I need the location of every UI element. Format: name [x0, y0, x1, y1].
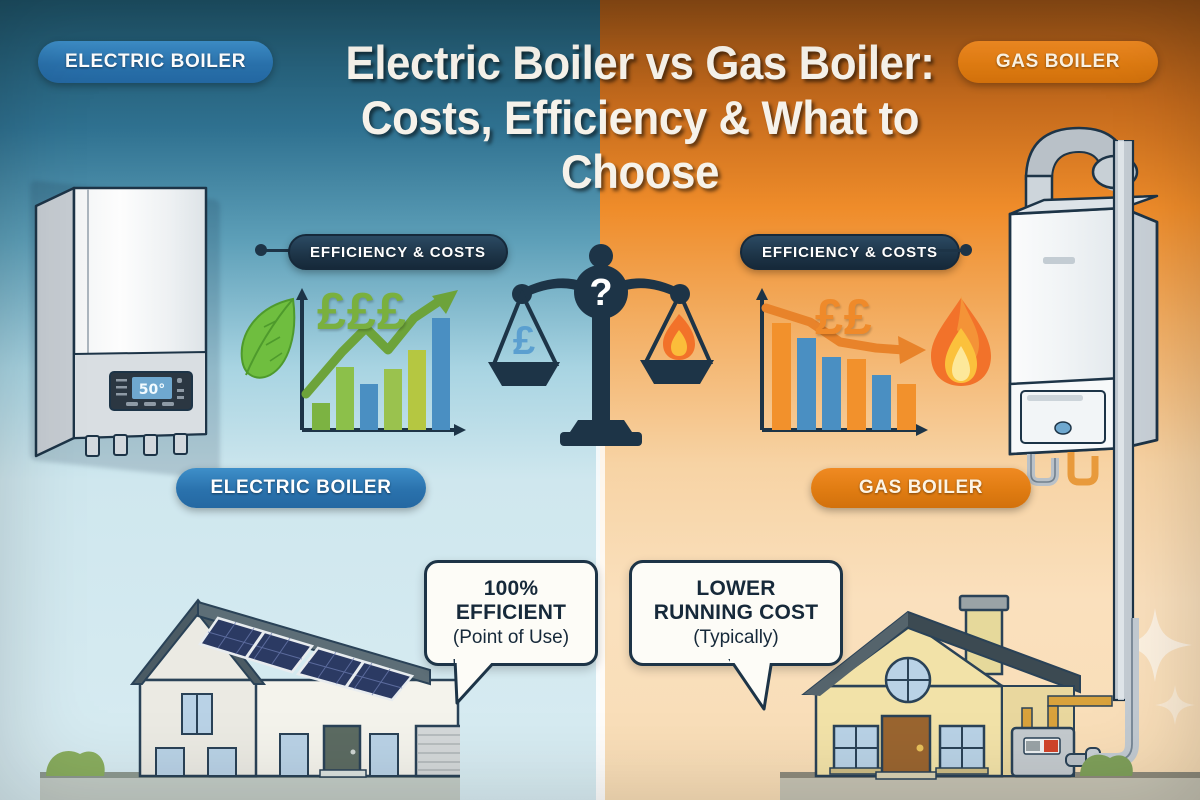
- bubble-left-line2: EFFICIENT: [435, 601, 587, 625]
- bubble-left-sub: (Point of Use): [435, 627, 587, 649]
- boiler-temperature-display: 50°: [139, 382, 165, 398]
- balance-scale-icon: ? £: [486, 236, 716, 458]
- bubble-right-sub: (Typically): [640, 627, 832, 649]
- efficiency-costs-label-left[interactable]: EFFICIENCY & COSTS: [288, 234, 508, 270]
- bubble-right-tail: [724, 659, 782, 717]
- bubble-right-line1: LOWER: [640, 577, 832, 601]
- label-gas-boiler-bottom[interactable]: GAS BOILER: [811, 468, 1031, 508]
- bubble-left-line1: 100%: [435, 577, 587, 601]
- scale-pound-symbol: £: [513, 319, 535, 363]
- bubble-gas-running-cost[interactable]: LOWER RUNNING COST (Typically): [629, 560, 843, 666]
- bubble-right-line2: RUNNING COST: [640, 601, 832, 625]
- efficiency-connector-dot-left: [255, 244, 267, 256]
- page-title: Electric Boiler vs Gas Boiler: Costs, Ef…: [282, 36, 998, 200]
- title-line-2: Costs, Efficiency & What to Choose: [282, 91, 998, 200]
- efficiency-connector-dot-right: [960, 244, 972, 256]
- efficiency-costs-label-right[interactable]: EFFICIENCY & COSTS: [740, 234, 960, 270]
- flame-icon: [921, 294, 999, 390]
- badge-electric-boiler-top[interactable]: ELECTRIC BOILER: [38, 41, 273, 83]
- title-line-1: Electric Boiler vs Gas Boiler:: [282, 36, 998, 91]
- money-symbol-right: ££: [815, 288, 873, 346]
- badge-gas-boiler-top[interactable]: GAS BOILER: [958, 41, 1158, 83]
- bubble-electric-efficiency[interactable]: 100% EFFICIENT (Point of Use): [424, 560, 598, 666]
- label-electric-boiler-bottom[interactable]: ELECTRIC BOILER: [176, 468, 426, 508]
- money-symbol-left: £££: [317, 282, 407, 342]
- infographic-canvas: Electric Boiler vs Gas Boiler: Costs, Ef…: [0, 0, 1200, 800]
- bubble-left-tail: [451, 659, 505, 709]
